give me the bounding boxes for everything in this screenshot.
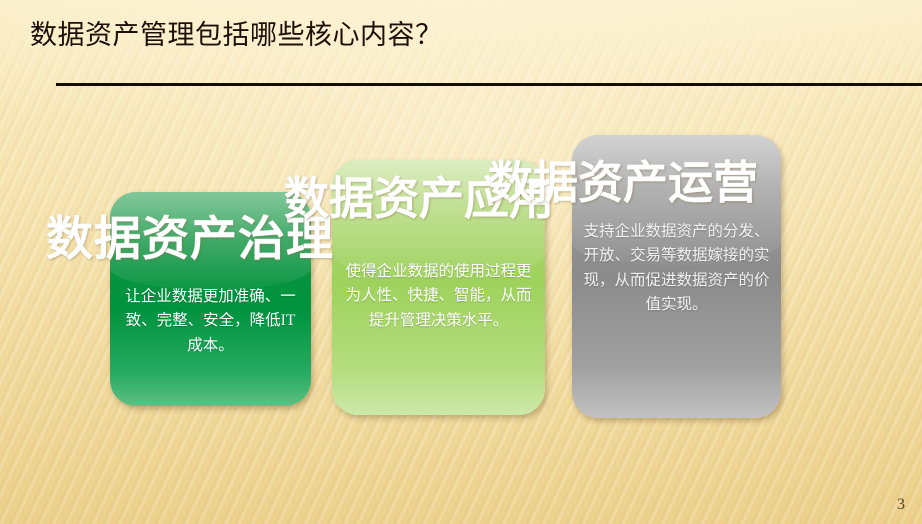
page-number: 3 xyxy=(897,496,905,514)
card-heading-operation: 数据资产运营 xyxy=(488,146,758,211)
card-body-governance: 让企业数据更加准确、一致、完整、安全，降低IT成本。 xyxy=(120,285,301,358)
card-body-operation: 支持企业数据资产的分发、开放、交易等数据嫁接的实现，从而促进数据资产的价值实现。 xyxy=(582,220,771,318)
title-underline-rule xyxy=(56,83,922,86)
slide: 数据资产管理包括哪些核心内容？ 让企业数据更加准确、一致、完整、安全，降低IT成… xyxy=(0,0,922,524)
card-body-application: 使得企业数据的使用过程更为人性、快捷、智能，从而提升管理决策水平。 xyxy=(342,260,535,333)
slide-title: 数据资产管理包括哪些核心内容？ xyxy=(30,19,443,51)
